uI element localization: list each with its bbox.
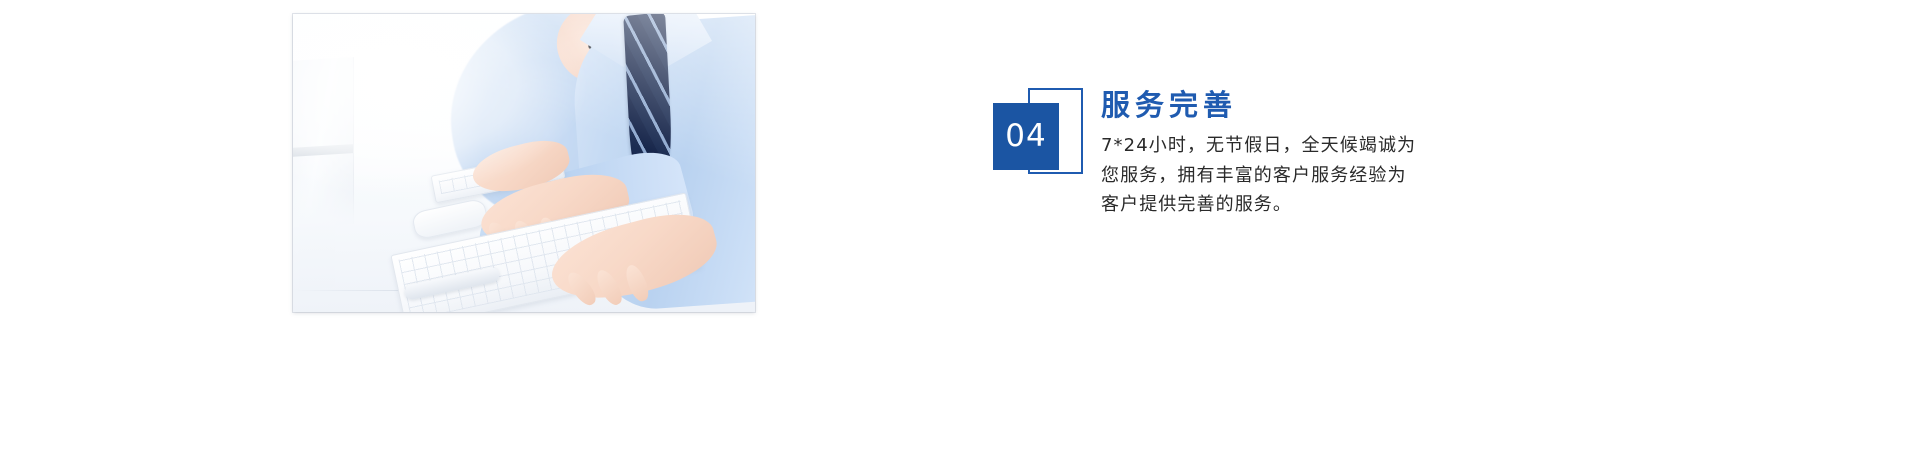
feature-description-line: 7*24小时，无节假日，全天候竭诚为 (1101, 131, 1531, 160)
feature-number-badge: 04 (993, 103, 1059, 170)
feature-description: 7*24小时，无节假日，全天候竭诚为 您服务，拥有丰富的客户服务经验为 客户提供… (1101, 131, 1531, 218)
monitor-band-shape (293, 144, 353, 157)
feature-description-line: 您服务，拥有丰富的客户服务经验为 (1101, 161, 1531, 190)
feature-number-label: 04 (1005, 121, 1046, 152)
feature-description-line: 客户提供完善的服务。 (1101, 190, 1531, 219)
feature-title: 服务完善 (1101, 88, 1531, 123)
feature-text-column: 服务完善 7*24小时，无节假日，全天候竭诚为 您服务，拥有丰富的客户服务经验为… (1101, 88, 1531, 219)
feature-photo-panel (293, 14, 755, 312)
call-center-agents-photo (293, 14, 755, 312)
feature-content: 04 服务完善 7*24小时，无节假日，全天候竭诚为 您服务，拥有丰富的客户服务… (993, 88, 1553, 258)
feature-section: 04 服务完善 7*24小时，无节假日，全天候竭诚为 您服务，拥有丰富的客户服务… (0, 0, 1920, 452)
